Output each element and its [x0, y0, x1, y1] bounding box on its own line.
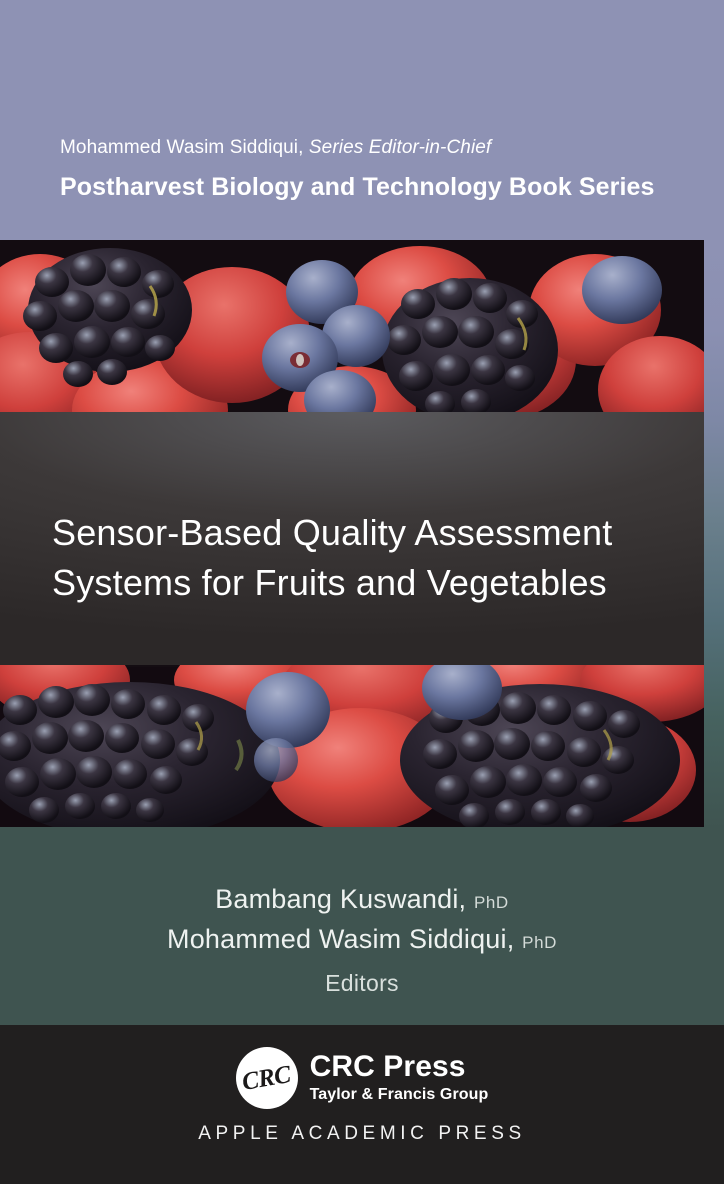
apple-academic-press-imprint: APPLE ACADEMIC PRESS — [0, 1123, 724, 1145]
series-editor-line: Mohammed Wasim Siddiqui, Series Editor-i… — [60, 137, 684, 159]
series-banner: Mohammed Wasim Siddiqui, Series Editor-i… — [0, 0, 724, 240]
editors-list: Bambang Kuswandi, PhD Mohammed Wasim Sid… — [0, 881, 724, 997]
book-title: Sensor-Based Quality Assessment Systems … — [52, 508, 664, 608]
series-title: Postharvest Biology and Technology Book … — [60, 173, 684, 202]
editor-2-degree: PhD — [522, 933, 557, 952]
editor-2-name: Mohammed Wasim Siddiqui, — [167, 924, 514, 954]
book-cover: Sensor-Based Quality Assessment Systems … — [0, 0, 724, 1184]
publisher-band: CRC CRC Press Taylor & Francis Group APP… — [0, 1025, 724, 1184]
title-band: Sensor-Based Quality Assessment Systems … — [0, 412, 704, 665]
crc-wordmark: CRC Press Taylor & Francis Group — [310, 1051, 489, 1105]
series-banner-content: Mohammed Wasim Siddiqui, Series Editor-i… — [60, 137, 684, 202]
book-title-line-2: Systems for Fruits and Vegetables — [52, 558, 664, 608]
book-title-line-1: Sensor-Based Quality Assessment — [52, 508, 664, 558]
editors-role-label: Editors — [0, 970, 724, 997]
taylor-francis-group: Taylor & Francis Group — [310, 1085, 489, 1105]
spine-edge-strip — [704, 0, 724, 1025]
crc-monogram: CRC — [241, 1061, 293, 1094]
series-editor-name: Mohammed Wasim Siddiqui, — [60, 137, 304, 158]
crc-press-logo: CRC CRC Press Taylor & Francis Group — [0, 1047, 724, 1109]
editor-entry: Bambang Kuswandi, PhD — [0, 881, 724, 921]
crc-press-name: CRC Press — [310, 1051, 489, 1083]
crc-roundel-icon: CRC — [236, 1047, 298, 1109]
editor-entry: Mohammed Wasim Siddiqui, PhD — [0, 921, 724, 961]
editor-1-name: Bambang Kuswandi, — [215, 884, 466, 914]
editors-section: Bambang Kuswandi, PhD Mohammed Wasim Sid… — [0, 827, 724, 1025]
editor-1-degree: PhD — [474, 893, 509, 912]
series-editor-role: Series Editor-in-Chief — [309, 137, 491, 158]
